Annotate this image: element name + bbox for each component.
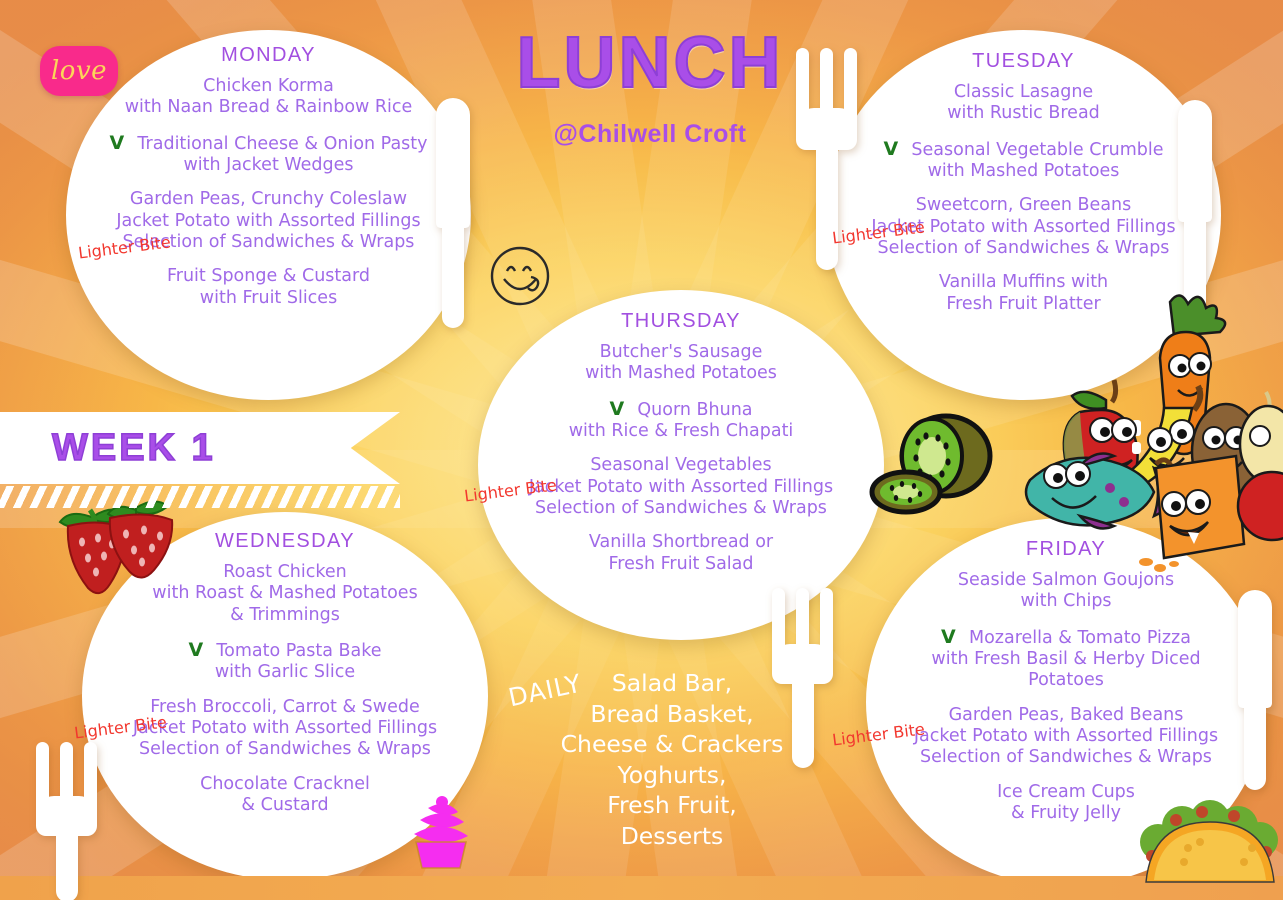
cartoon-food-characters	[1010, 292, 1283, 596]
spacer	[826, 125, 1221, 138]
spacer	[866, 692, 1266, 705]
spacer	[478, 333, 884, 342]
week-ribbon: WEEK 1	[0, 412, 400, 484]
daily-item: Desserts	[536, 821, 808, 852]
menu-line: with Fresh Basil & Herby Diced	[866, 649, 1266, 670]
menu-line: with Naan Bread & Rainbow Rice	[66, 97, 471, 118]
strawberries-icon	[38, 496, 188, 610]
menu-line: Garden Peas, Baked Beans	[866, 705, 1266, 726]
menu-line: V Traditional Cheese & Onion Pasty	[66, 132, 471, 155]
smiley-tongue-icon	[487, 243, 553, 313]
menu-line: with Rustic Bread	[826, 103, 1221, 124]
vegetarian-marker: V	[109, 132, 137, 154]
menu-poster: love LUNCH @Chilwell Croft WEEK 1 MONDAY…	[0, 0, 1283, 900]
subtitle-location: Chilwell Croft	[578, 120, 746, 148]
spacer	[82, 626, 488, 639]
cupcake-icon	[402, 794, 478, 874]
vegetarian-marker: V	[609, 398, 637, 420]
spacer	[82, 684, 488, 697]
menu-line: with Rice & Fresh Chapati	[478, 421, 884, 442]
menu-line: V Quorn Bhuna	[478, 398, 884, 421]
kiwi-icon	[866, 404, 996, 528]
day-heading: TUESDAY	[826, 50, 1221, 73]
menu-line: Chicken Korma	[66, 76, 471, 97]
menu-line: Fresh Fruit Salad	[478, 554, 884, 575]
daily-item: Fresh Fruit,	[536, 790, 808, 821]
subtitle-at: @	[554, 120, 579, 148]
menu-line: Selection of Sandwiches & Wraps	[82, 739, 488, 760]
spacer	[866, 613, 1266, 626]
menu-line: Fruit Sponge & Custard	[66, 266, 471, 287]
day-heading: THURSDAY	[478, 310, 884, 333]
menu-line: V Seasonal Vegetable Crumble	[826, 138, 1221, 161]
menu-line: Jacket Potato with Assorted Fillings	[66, 211, 471, 232]
menu-line: Selection of Sandwiches & Wraps	[826, 238, 1221, 259]
menu-line: Potatoes	[866, 670, 1266, 691]
vegetarian-marker: V	[941, 626, 969, 648]
menu-line: with Mashed Potatoes	[478, 363, 884, 384]
spacer	[866, 769, 1266, 782]
menu-line: with Mashed Potatoes	[826, 161, 1221, 182]
spacer	[478, 519, 884, 532]
love-badge-text: love	[51, 56, 107, 86]
poster-title-block: LUNCH @Chilwell Croft	[470, 22, 830, 149]
knife-icon	[1178, 100, 1212, 318]
spacer	[66, 67, 471, 76]
spacer	[826, 182, 1221, 195]
week-banner: WEEK 1	[0, 412, 400, 484]
menu-line: Sweetcorn, Green Beans	[826, 195, 1221, 216]
daily-item: Yoghurts,	[536, 760, 808, 791]
vegetarian-marker: V	[188, 639, 216, 661]
daily-item: Bread Basket,	[536, 699, 808, 730]
menu-line: Selection of Sandwiches & Wraps	[478, 498, 884, 519]
knife-icon	[1238, 590, 1272, 790]
fork-icon	[36, 742, 100, 900]
bottom-band	[0, 876, 1283, 900]
menu-line: Butcher's Sausage	[478, 342, 884, 363]
love-badge: love	[40, 46, 118, 96]
day-heading: MONDAY	[66, 44, 471, 67]
spacer	[66, 119, 471, 132]
knife-icon	[436, 98, 470, 328]
menu-line: Chocolate Cracknel	[82, 774, 488, 795]
menu-line: V Mozarella & Tomato Pizza	[866, 626, 1266, 649]
menu-line: Vanilla Muffins with	[826, 272, 1221, 293]
spacer	[478, 442, 884, 455]
week-label: WEEK 1	[52, 427, 216, 470]
menu-line: Seasonal Vegetables	[478, 455, 884, 476]
menu-line: Jacket Potato with Assorted Fillings	[866, 726, 1266, 747]
spacer	[826, 73, 1221, 82]
page-title: LUNCH	[470, 22, 830, 104]
menu-line: with Garlic Slice	[82, 662, 488, 683]
daily-section: DAILY Salad Bar,Bread Basket,Cheese & Cr…	[508, 668, 808, 851]
menu-line: Classic Lasagne	[826, 82, 1221, 103]
spacer	[826, 259, 1221, 272]
menu-line: V Tomato Pasta Bake	[82, 639, 488, 662]
taco-icon	[1136, 786, 1283, 896]
week-stripes	[0, 486, 400, 508]
menu-line: Selection of Sandwiches & Wraps	[866, 747, 1266, 768]
spacer	[82, 761, 488, 774]
daily-item: Cheese & Crackers	[536, 729, 808, 760]
menu-line: with Jacket Wedges	[66, 155, 471, 176]
day-plate-monday: MONDAYChicken Kormawith Naan Bread & Rai…	[66, 30, 471, 400]
menu-line: Vanilla Shortbread or	[478, 532, 884, 553]
menu-line: with Fruit Slices	[66, 288, 471, 309]
spacer	[66, 176, 471, 189]
vegetarian-marker: V	[883, 138, 911, 160]
page-subtitle: @Chilwell Croft	[470, 120, 830, 149]
spacer	[478, 385, 884, 398]
menu-line: Garden Peas, Crunchy Coleslaw	[66, 189, 471, 210]
